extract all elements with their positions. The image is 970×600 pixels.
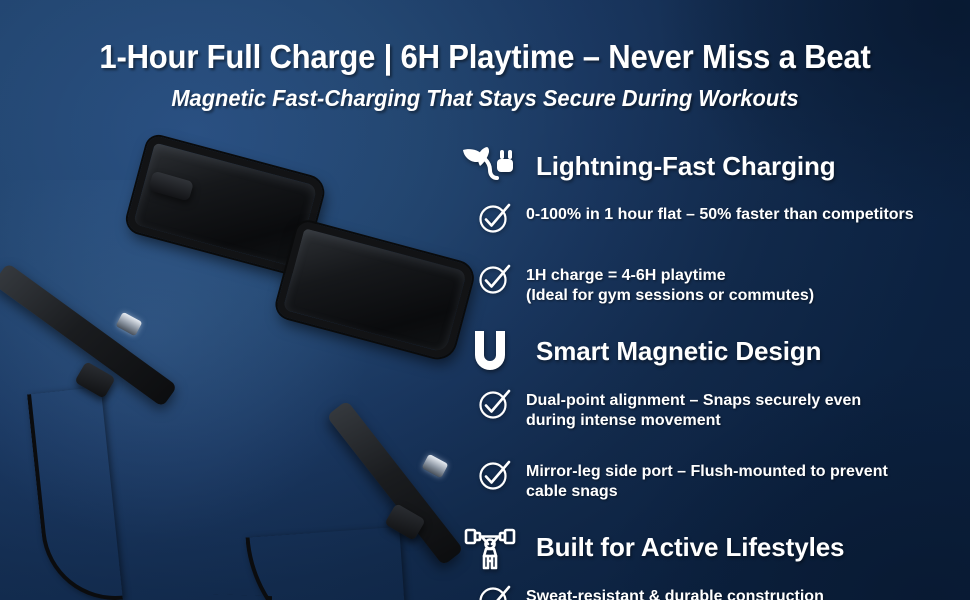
- charging-cable-right: [246, 527, 409, 600]
- banner-subtitle: Magnetic Fast-Charging That Stays Secure…: [24, 76, 946, 112]
- bullet-item: Sweat-resistant & durable construction: [452, 578, 970, 600]
- bullet-item: Mirror-leg side port – Flush-mounted to …: [452, 453, 970, 508]
- check-circle-icon: [478, 459, 514, 493]
- banner-header: 1-Hour Full Charge | 6H Playtime – Never…: [0, 0, 970, 112]
- bullet-label: 1H charge = 4-6H playtime (Ideal for gym…: [526, 262, 814, 307]
- bullet-item: Dual-point alignment – Snaps securely ev…: [452, 382, 970, 437]
- feature-heading-row: Built for Active Lifestyles: [452, 522, 970, 574]
- weightlifter-icon: [458, 522, 522, 574]
- feature-bullets: Dual-point alignment – Snaps securely ev…: [452, 382, 970, 508]
- eco-plug-icon: [458, 140, 522, 192]
- feature-heading-label: Smart Magnetic Design: [536, 336, 821, 367]
- feature-bullets: 0-100% in 1 hour flat – 50% faster than …: [452, 196, 970, 312]
- bullet-label: 0-100% in 1 hour flat – 50% faster than …: [526, 201, 914, 225]
- bullet-item: 0-100% in 1 hour flat – 50% faster than …: [452, 196, 970, 241]
- feature-block-charging: Lightning-Fast Charging 0-100% in 1 hour…: [452, 140, 970, 312]
- product-feature-banner: 1-Hour Full Charge | 6H Playtime – Never…: [0, 0, 970, 600]
- lens-right: [274, 220, 475, 362]
- bullet-label: Dual-point alignment – Snaps securely ev…: [526, 387, 861, 432]
- feature-block-active: Built for Active Lifestyles Sweat-resist…: [452, 522, 970, 600]
- feature-heading-label: Lightning-Fast Charging: [536, 151, 836, 182]
- horseshoe-magnet-icon: [458, 326, 522, 378]
- feature-block-magnetic: Smart Magnetic Design Dual-point alignme…: [452, 326, 970, 508]
- feature-heading-row: Lightning-Fast Charging: [452, 140, 970, 192]
- bullet-label: Sweat-resistant & durable construction: [526, 583, 824, 600]
- feature-heading-label: Built for Active Lifestyles: [536, 532, 844, 563]
- hinge-right: [422, 454, 449, 478]
- feature-heading-row: Smart Magnetic Design: [452, 326, 970, 378]
- bullet-item: 1H charge = 4-6H playtime (Ideal for gym…: [452, 257, 970, 312]
- product-image-sunglasses: [0, 140, 470, 600]
- check-circle-icon: [478, 202, 514, 236]
- feature-bullets: Sweat-resistant & durable construction: [452, 578, 970, 600]
- feature-list: Lightning-Fast Charging 0-100% in 1 hour…: [452, 140, 970, 600]
- check-circle-icon: [478, 263, 514, 297]
- check-circle-icon: [478, 584, 514, 600]
- banner-title: 1-Hour Full Charge | 6H Playtime – Never…: [29, 0, 941, 76]
- charging-cable-tail: [34, 588, 272, 600]
- check-circle-icon: [478, 388, 514, 422]
- bullet-label: Mirror-leg side port – Flush-mounted to …: [526, 458, 888, 503]
